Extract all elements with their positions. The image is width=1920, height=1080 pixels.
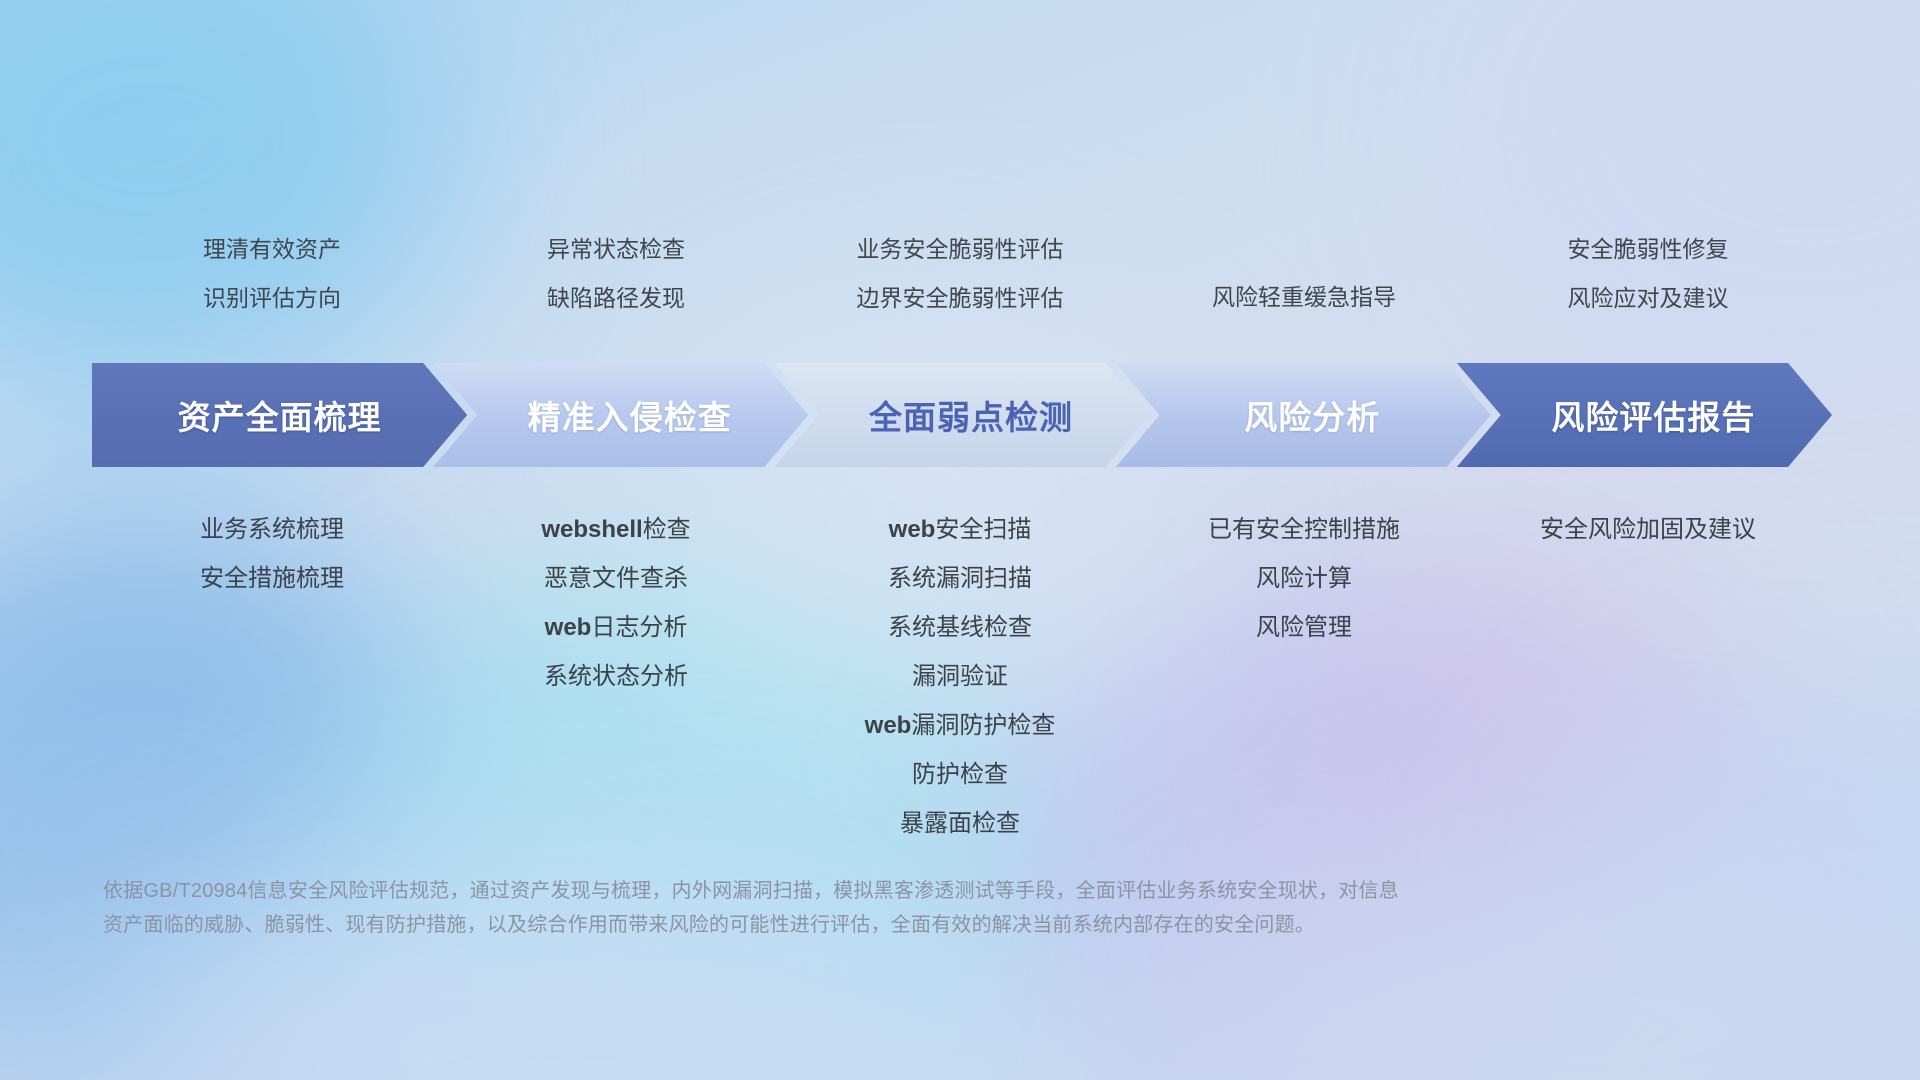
stage-arrow-risk-analysis[interactable]: 风险分析	[1116, 363, 1491, 467]
top-item: 异常状态检查	[547, 225, 685, 274]
bottom-col-intrusion-check: webshell检查 恶意文件查杀 web日志分析 系统状态分析	[444, 505, 788, 701]
top-item: 识别评估方向	[203, 274, 341, 323]
top-col-asset-inventory: 理清有效资产 识别评估方向	[100, 225, 444, 345]
bottom-item: 防护检查	[912, 750, 1008, 799]
footer-description: 依据GB/T20984信息安全风险评估规范，通过资产发现与梳理，内外网漏洞扫描，…	[103, 874, 1623, 942]
process-diagram: 理清有效资产 识别评估方向 异常状态检查 缺陷路径发现 业务安全脆弱性评估 边界…	[0, 0, 1920, 1080]
top-item: 理清有效资产	[203, 225, 341, 274]
bottom-item: 风险管理	[1256, 603, 1352, 652]
stage-title: 风险评估报告	[1533, 391, 1755, 439]
stage-arrow-assessment-report[interactable]: 风险评估报告	[1457, 363, 1832, 467]
bottom-item: 安全风险加固及建议	[1540, 505, 1756, 554]
bottom-col-assessment-report: 安全风险加固及建议	[1476, 505, 1820, 554]
top-item: 缺陷路径发现	[547, 274, 685, 323]
top-descriptor-row: 理清有效资产 识别评估方向 异常状态检查 缺陷路径发现 业务安全脆弱性评估 边界…	[100, 225, 1820, 345]
footer-line-1: 依据GB/T20984信息安全风险评估规范，通过资产发现与梳理，内外网漏洞扫描，…	[103, 874, 1623, 908]
bottom-col-weakness-detection: web安全扫描 系统漏洞扫描 系统基线检查 漏洞验证 web漏洞防护检查 防护检…	[788, 505, 1132, 848]
bottom-item: 风险计算	[1256, 554, 1352, 603]
stage-title: 全面弱点检测	[851, 391, 1073, 439]
bottom-item: 漏洞验证	[912, 652, 1008, 701]
stage-title: 风险分析	[1226, 391, 1380, 439]
top-col-weakness-detection: 业务安全脆弱性评估 边界安全脆弱性评估	[788, 225, 1132, 345]
top-item: 风险轻重缓急指导	[1212, 273, 1396, 322]
bottom-item: web漏洞防护检查	[865, 701, 1056, 750]
stage-title: 精准入侵检查	[510, 391, 732, 439]
bottom-item: web日志分析	[545, 603, 688, 652]
bottom-col-asset-inventory: 业务系统梳理 安全措施梳理	[100, 505, 444, 603]
bottom-item: 暴露面检查	[900, 799, 1020, 848]
stage-arrow-intrusion-check[interactable]: 精准入侵检查	[433, 363, 808, 467]
top-item: 业务安全脆弱性评估	[857, 225, 1064, 274]
bottom-item: 恶意文件查杀	[544, 554, 688, 603]
bottom-detail-row: 业务系统梳理 安全措施梳理 webshell检查 恶意文件查杀 web日志分析 …	[100, 505, 1820, 848]
top-item: 安全脆弱性修复	[1568, 225, 1729, 274]
top-item: 风险应对及建议	[1568, 274, 1729, 323]
bottom-item: 系统基线检查	[888, 603, 1032, 652]
top-col-risk-analysis: 风险轻重缓急指导	[1132, 225, 1476, 345]
top-item: 边界安全脆弱性评估	[857, 274, 1064, 323]
bottom-item: 安全措施梳理	[200, 554, 344, 603]
bottom-item: 系统漏洞扫描	[888, 554, 1032, 603]
bottom-item: 系统状态分析	[544, 652, 688, 701]
bottom-item: 业务系统梳理	[200, 505, 344, 554]
top-col-intrusion-check: 异常状态检查 缺陷路径发现	[444, 225, 788, 345]
footer-line-2: 资产面临的威胁、脆弱性、现有防护措施，以及综合作用而带来风险的可能性进行评估，全…	[103, 908, 1623, 942]
stage-title: 资产全面梳理	[178, 391, 382, 439]
stage-arrow-asset-inventory[interactable]: 资产全面梳理	[92, 363, 467, 467]
bottom-item: 已有安全控制措施	[1208, 505, 1400, 554]
stage-arrow-band: 资产全面梳理 精准入侵检查 全面弱点检测 风险分析 风险评估报告	[92, 363, 1832, 467]
stage-arrow-weakness-detection[interactable]: 全面弱点检测	[774, 363, 1149, 467]
bottom-col-risk-analysis: 已有安全控制措施 风险计算 风险管理	[1132, 505, 1476, 652]
top-col-assessment-report: 安全脆弱性修复 风险应对及建议	[1476, 225, 1820, 345]
bottom-item: web安全扫描	[889, 505, 1032, 554]
bottom-item: webshell检查	[541, 505, 690, 554]
